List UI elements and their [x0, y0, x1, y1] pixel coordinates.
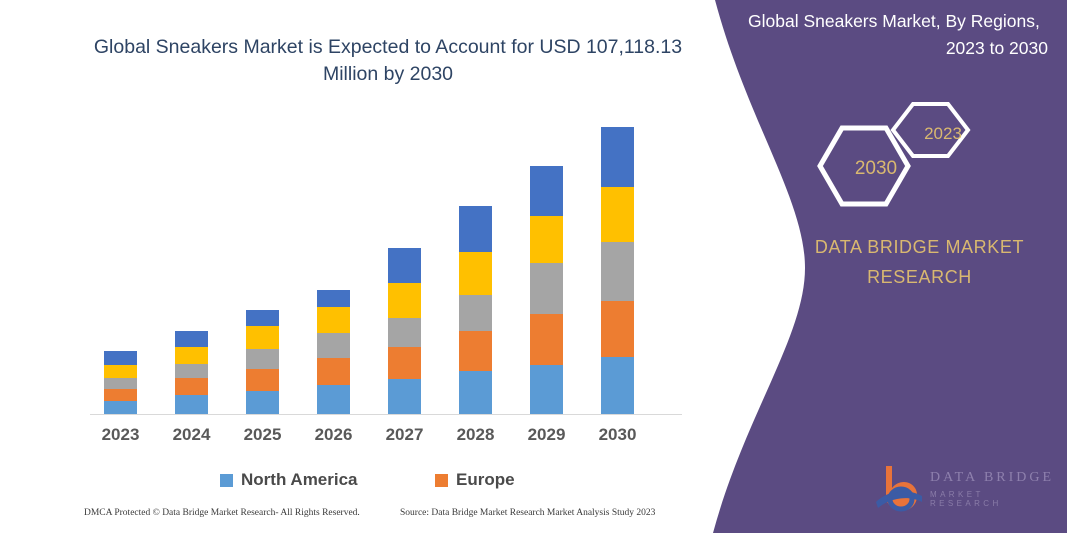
bar-segment: [317, 307, 350, 333]
bar-chart-plot: [90, 110, 682, 415]
bar-segment: [388, 248, 421, 283]
x-axis-label-2029: 2029: [517, 425, 577, 445]
bar-segment: [601, 127, 634, 187]
bar-2023[interactable]: [104, 351, 137, 414]
bar-segment: [601, 301, 634, 358]
logo-text-primary: DATA BRIDGE: [930, 470, 1054, 486]
bar-segment: [175, 331, 208, 347]
bar-segment: [530, 263, 563, 314]
x-axis-label-2027: 2027: [375, 425, 435, 445]
bar-2028[interactable]: [459, 206, 492, 414]
x-axis-label-2030: 2030: [588, 425, 648, 445]
company-logo: DATA BRIDGE MARKET RESEARCH: [868, 458, 1058, 520]
panel-title: Global Sneakers Market, By Regions, 2023…: [748, 8, 1048, 62]
bar-segment: [459, 206, 492, 251]
x-axis-label-2025: 2025: [233, 425, 293, 445]
bar-2027[interactable]: [388, 248, 421, 414]
bar-2026[interactable]: [317, 290, 350, 414]
bar-segment: [388, 379, 421, 414]
x-axis-label-2028: 2028: [446, 425, 506, 445]
bar-segment: [104, 378, 137, 388]
legend-label: North America: [241, 470, 358, 490]
bar-segment: [104, 389, 137, 402]
bar-segment: [601, 357, 634, 414]
panel-title-line2: 2023 to 2030: [748, 35, 1048, 62]
bar-segment: [601, 187, 634, 243]
bar-2029[interactable]: [530, 166, 563, 414]
bar-2025[interactable]: [246, 310, 279, 414]
bar-segment: [388, 283, 421, 318]
bar-segment: [388, 318, 421, 347]
brand-name: DATA BRIDGE MARKET RESEARCH: [812, 232, 1027, 292]
bar-segment: [601, 242, 634, 301]
bar-segment: [317, 290, 350, 307]
bar-segment: [388, 347, 421, 379]
x-axis-labels: 20232024202520262027202820292030: [90, 425, 682, 449]
chart-legend: North AmericaEurope: [200, 470, 600, 494]
bar-segment: [459, 295, 492, 332]
bar-segment: [530, 365, 563, 414]
bar-segment: [530, 216, 563, 263]
bar-segment: [175, 364, 208, 379]
bar-segment: [317, 333, 350, 358]
bar-segment: [317, 358, 350, 384]
bar-segment: [459, 371, 492, 414]
hexagon-2030-label: 2030: [838, 158, 914, 180]
legend-swatch-icon: [435, 474, 448, 487]
bar-segment: [104, 365, 137, 379]
bar-segment: [317, 385, 350, 414]
bar-segment: [246, 391, 279, 414]
hexagon-2023-label: 2023: [910, 124, 976, 144]
footer: DMCA Protected © Data Bridge Market Rese…: [0, 508, 690, 528]
legend-item-north-america[interactable]: North America: [220, 470, 358, 490]
bar-segment: [459, 252, 492, 295]
hexagon-shapes: [810, 100, 995, 210]
bar-segment: [175, 395, 208, 414]
x-axis-label-2024: 2024: [162, 425, 222, 445]
legend-item-europe[interactable]: Europe: [435, 470, 515, 490]
bar-segment: [246, 326, 279, 349]
footer-source-text: Source: Data Bridge Market Research Mark…: [400, 508, 655, 518]
panel-title-line1: Global Sneakers Market, By Regions,: [748, 8, 1048, 35]
bar-segment: [104, 351, 137, 365]
hexagon-group: 2030 2023: [810, 100, 995, 210]
page-title: Global Sneakers Market is Expected to Ac…: [88, 34, 688, 88]
logo-text-secondary: MARKET RESEARCH: [930, 490, 1058, 508]
bar-segment: [530, 314, 563, 364]
brand-line-1: DATA BRIDGE MARKET: [815, 237, 1024, 257]
bar-segment: [530, 166, 563, 216]
legend-label: Europe: [456, 470, 515, 490]
legend-swatch-icon: [220, 474, 233, 487]
brand-line-2: RESEARCH: [867, 267, 972, 287]
bar-segment: [246, 369, 279, 391]
footer-dmca-text: DMCA Protected © Data Bridge Market Rese…: [84, 508, 360, 518]
bar-segment: [175, 378, 208, 395]
bar-segment: [104, 401, 137, 414]
infographic-canvas: Global Sneakers Market is Expected to Ac…: [0, 0, 1067, 533]
bar-2024[interactable]: [175, 331, 208, 414]
x-axis-line: [90, 414, 682, 415]
logo-mark-icon: [868, 458, 928, 518]
x-axis-label-2026: 2026: [304, 425, 364, 445]
bar-segment: [459, 331, 492, 371]
bar-2030[interactable]: [601, 127, 634, 414]
bar-segment: [246, 349, 279, 369]
x-axis-label-2023: 2023: [91, 425, 151, 445]
bar-segment: [175, 347, 208, 364]
bar-segment: [246, 310, 279, 326]
